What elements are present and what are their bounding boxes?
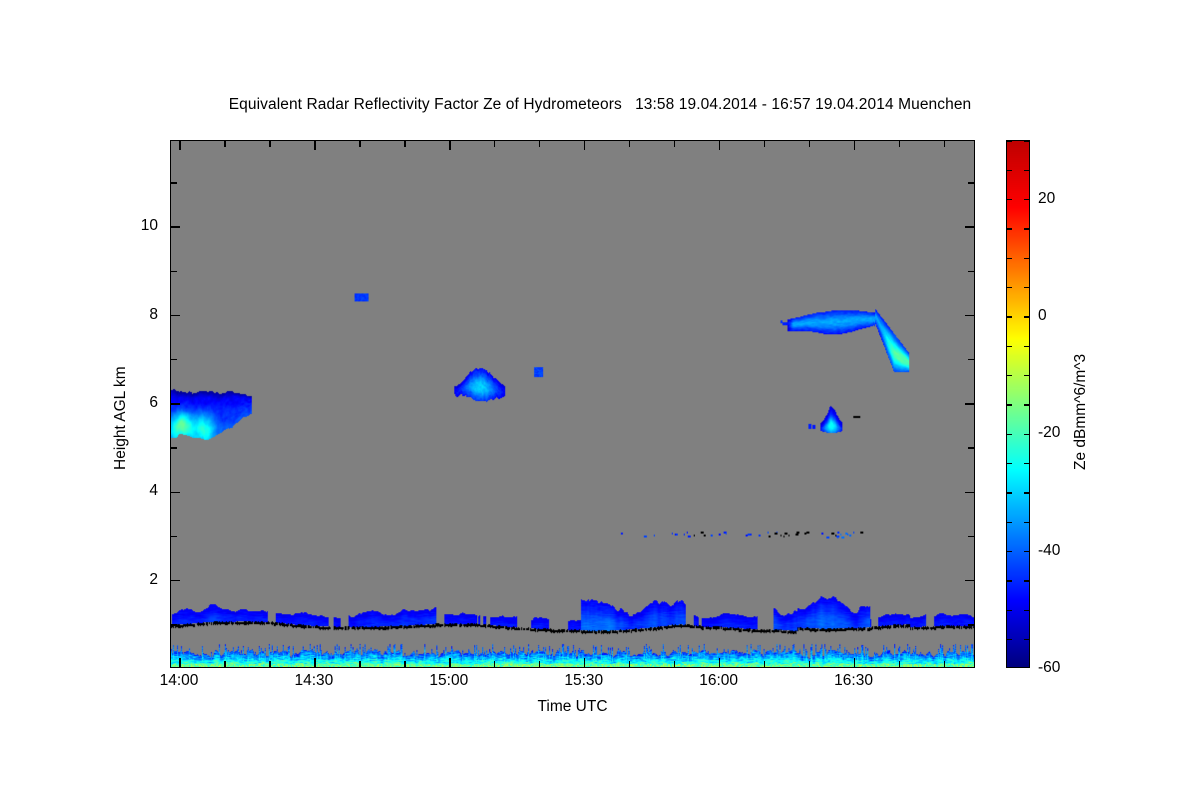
y-axis-tick [171,580,180,581]
x-axis-title: Time UTC [170,698,975,716]
x-axis-tick [449,141,450,150]
colorbar-tick-label: -40 [1038,542,1060,560]
colorbar-tick-label: 20 [1038,190,1055,208]
x-axis-tick [269,141,270,147]
x-axis-tick [539,141,540,147]
x-axis-tick [404,661,405,667]
colorbar-tick [1007,258,1012,259]
x-axis-tick [494,141,495,147]
y-axis-tick [171,492,180,493]
colorbar-tick [1007,375,1012,376]
x-axis-tick [224,661,225,667]
radar-heatmap-plot [170,140,975,668]
x-axis-tick [494,661,495,667]
y-axis-tick [171,447,177,448]
y-axis-tick [171,271,177,272]
y-axis-tick [968,624,974,625]
colorbar-tick [1007,404,1012,405]
y-axis-tick [965,403,974,404]
y-axis-tick [965,580,974,581]
x-axis-tick [944,141,945,147]
x-axis-tick [179,141,180,150]
y-axis-tick-label: 2 [112,571,158,589]
colorbar-tick [1024,580,1029,581]
colorbar-tick [1024,287,1029,288]
x-axis-tick [674,141,675,147]
x-axis-tick [584,658,585,667]
x-axis-tick-label: 15:30 [539,672,629,690]
x-axis-tick [359,661,360,667]
x-axis-tick-label: 14:30 [269,672,359,690]
colorbar-tick [1024,140,1029,141]
y-axis-tick [171,536,177,537]
x-axis-tick [854,141,855,150]
y-axis-tick [965,226,974,227]
y-axis-tick [171,182,177,183]
colorbar-tick [1007,639,1012,640]
colorbar-tick [1024,522,1029,523]
x-axis-tick [314,658,315,667]
y-axis-tick [965,315,974,316]
y-axis-tick [171,403,180,404]
colorbar-tick [1007,551,1012,552]
x-axis-tick [944,661,945,667]
colorbar-tick [1007,463,1012,464]
x-axis-tick [224,141,225,147]
y-axis-tick-label: 10 [112,217,158,235]
y-axis-tick [968,182,974,183]
y-axis-tick [968,536,974,537]
x-axis-tick [719,141,720,150]
colorbar [1006,140,1030,668]
colorbar-tick [1024,258,1029,259]
colorbar-title: Ze dBmm^6/m^3 [1072,354,1090,470]
colorbar-tick-label: -60 [1038,659,1060,677]
y-axis-tick [968,359,974,360]
x-axis-tick [629,661,630,667]
x-axis-tick [899,141,900,147]
colorbar-tick [1007,492,1012,493]
colorbar-tick [1007,580,1012,581]
x-axis-tick [719,658,720,667]
colorbar-tick [1024,375,1029,376]
colorbar-tick [1024,404,1029,405]
x-axis-tick [809,661,810,667]
y-axis-tick [171,226,180,227]
x-axis-tick-label: 16:00 [674,672,764,690]
x-axis-tick [584,141,585,150]
x-axis-tick [764,141,765,147]
colorbar-tick [1024,346,1029,347]
y-axis-tick [968,271,974,272]
x-axis-tick [314,141,315,150]
colorbar-tick-label: 0 [1038,307,1047,325]
colorbar-tick [1024,492,1029,493]
colorbar-tick [1007,316,1012,317]
x-axis-tick [674,661,675,667]
colorbar-tick [1024,639,1029,640]
x-axis-tick [359,141,360,147]
x-axis-tick [854,658,855,667]
x-axis-tick-label: 15:00 [404,672,494,690]
y-axis-tick [171,315,180,316]
colorbar-tick [1024,551,1029,552]
x-axis-tick [269,661,270,667]
x-axis-tick [449,658,450,667]
colorbar-tick [1024,228,1029,229]
colorbar-tick [1024,463,1029,464]
y-axis-tick [171,359,177,360]
colorbar-tick [1024,170,1029,171]
x-axis-tick [809,141,810,147]
x-axis-tick [404,141,405,147]
y-axis-tick-label: 8 [112,306,158,324]
x-axis-tick [539,661,540,667]
x-axis-tick-label: 16:30 [809,672,899,690]
x-axis-tick [179,658,180,667]
x-axis-tick [629,141,630,147]
page-title: Equivalent Radar Reflectivity Factor Ze … [0,96,1200,114]
colorbar-tick [1007,346,1012,347]
y-axis-tick [965,492,974,493]
colorbar-tick [1007,228,1012,229]
y-axis-tick-label: 4 [112,482,158,500]
colorbar-tick [1007,522,1012,523]
colorbar-tick [1024,199,1029,200]
colorbar-tick-label: -20 [1038,424,1060,442]
y-axis-tick [968,447,974,448]
y-axis-title: Height AGL km [112,366,130,470]
y-axis-tick [171,624,177,625]
x-axis-tick [764,661,765,667]
colorbar-tick [1007,434,1012,435]
colorbar-tick [1024,434,1029,435]
colorbar-tick [1007,170,1012,171]
heatmap-canvas [171,141,974,667]
x-axis-tick [899,661,900,667]
colorbar-tick [1024,610,1029,611]
x-axis-tick-label: 14:00 [134,672,224,690]
colorbar-tick [1007,199,1012,200]
colorbar-tick [1024,316,1029,317]
colorbar-tick [1007,140,1012,141]
colorbar-tick [1007,287,1012,288]
colorbar-tick [1007,610,1012,611]
